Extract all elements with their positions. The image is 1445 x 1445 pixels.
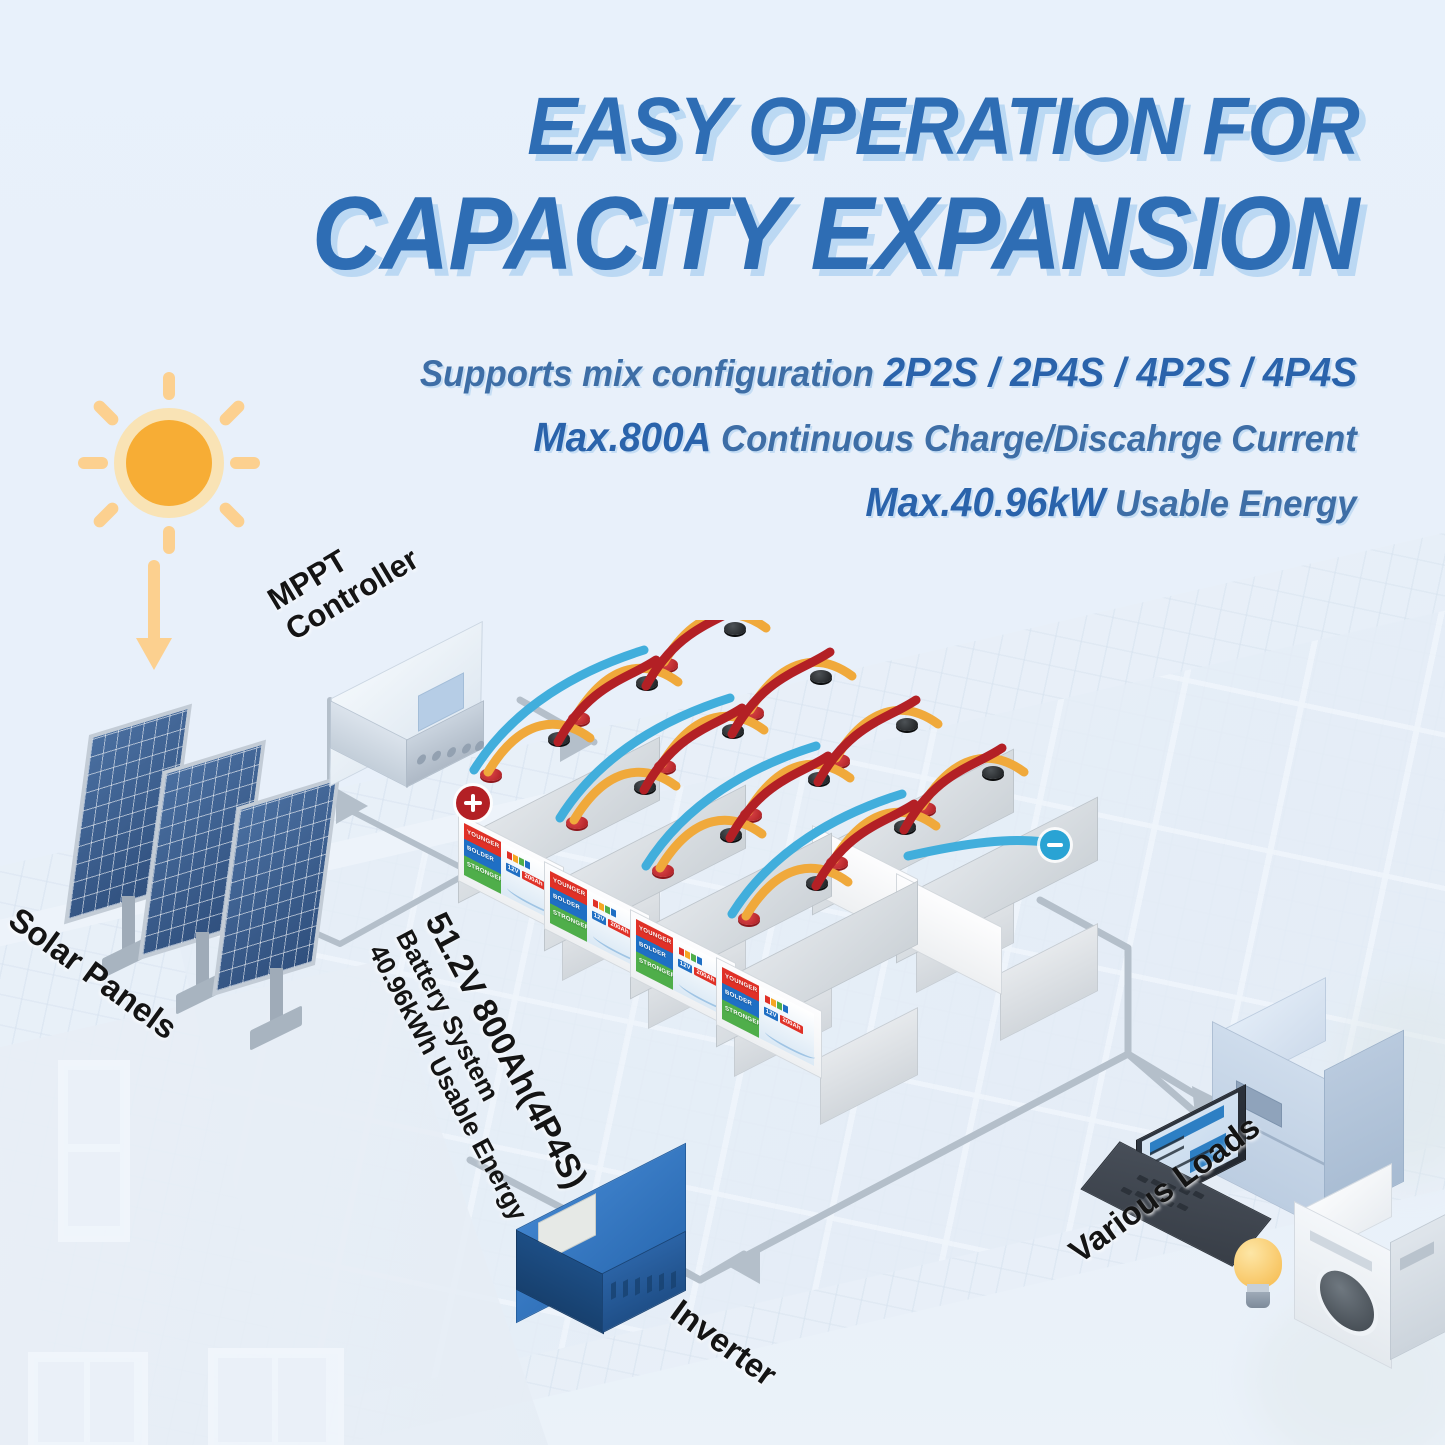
headline-line-1: EASY OPERATION FOR [527, 86, 1359, 168]
inverter-vent [647, 1275, 652, 1294]
infographic-canvas: EASY OPERATION FOR CAPACITY EXPANSION Su… [0, 0, 1445, 1445]
inverter-vent [659, 1273, 664, 1292]
solar-panel-pole [122, 896, 135, 950]
headline-line-2: CAPACITY EXPANSION [312, 182, 1359, 286]
inverter-vent [635, 1277, 640, 1296]
inverter-vent [611, 1281, 616, 1300]
sun-ray [230, 457, 260, 469]
sun-ray [217, 398, 247, 428]
subline-3-suffix: Usable Energy [1106, 483, 1357, 524]
solar-panel-pole [196, 932, 209, 986]
sun-ray [91, 398, 121, 428]
inverter-vent [671, 1271, 676, 1290]
subline-energy: Max.40.96kW Usable Energy [866, 479, 1357, 526]
subline-1-prefix: Supports mix configuration [420, 353, 884, 394]
subline-current: Max.800A Continuous Charge/Discahrge Cur… [534, 414, 1357, 461]
positive-terminal-marker [456, 786, 490, 820]
light-bulb-icon [1228, 1238, 1288, 1318]
sun-ray [163, 372, 175, 400]
bulb-glass [1234, 1238, 1282, 1288]
sun-icon [78, 372, 260, 554]
subline-2-emphasis: Max.800A [534, 414, 712, 460]
sunlight-arrow-icon [148, 560, 160, 672]
arrow-stem [148, 560, 160, 646]
subline-3-emphasis: Max.40.96kW [866, 479, 1106, 525]
subline-1-emphasis: 2P2S / 2P4S / 4P2S / 4P4S [884, 349, 1357, 395]
sun-ray [91, 500, 121, 530]
sun-ray [163, 526, 175, 554]
subline-2-suffix: Continuous Charge/Discahrge Current [712, 418, 1357, 459]
washer-side-face [1390, 1210, 1445, 1361]
mppt-port [417, 753, 426, 767]
battery-bus-cables [430, 620, 1130, 1060]
bulb-base [1246, 1292, 1270, 1308]
inverter-vent [623, 1279, 628, 1298]
subline-configuration: Supports mix configuration 2P2S / 2P4S /… [420, 349, 1357, 396]
arrow-head [136, 638, 172, 670]
washing-machine [1294, 1188, 1445, 1378]
negative-terminal-marker [1040, 830, 1070, 860]
sun-ray [78, 457, 108, 469]
solar-panel-pole [270, 968, 283, 1022]
sun-ray [217, 500, 247, 530]
sun-core [126, 420, 212, 506]
